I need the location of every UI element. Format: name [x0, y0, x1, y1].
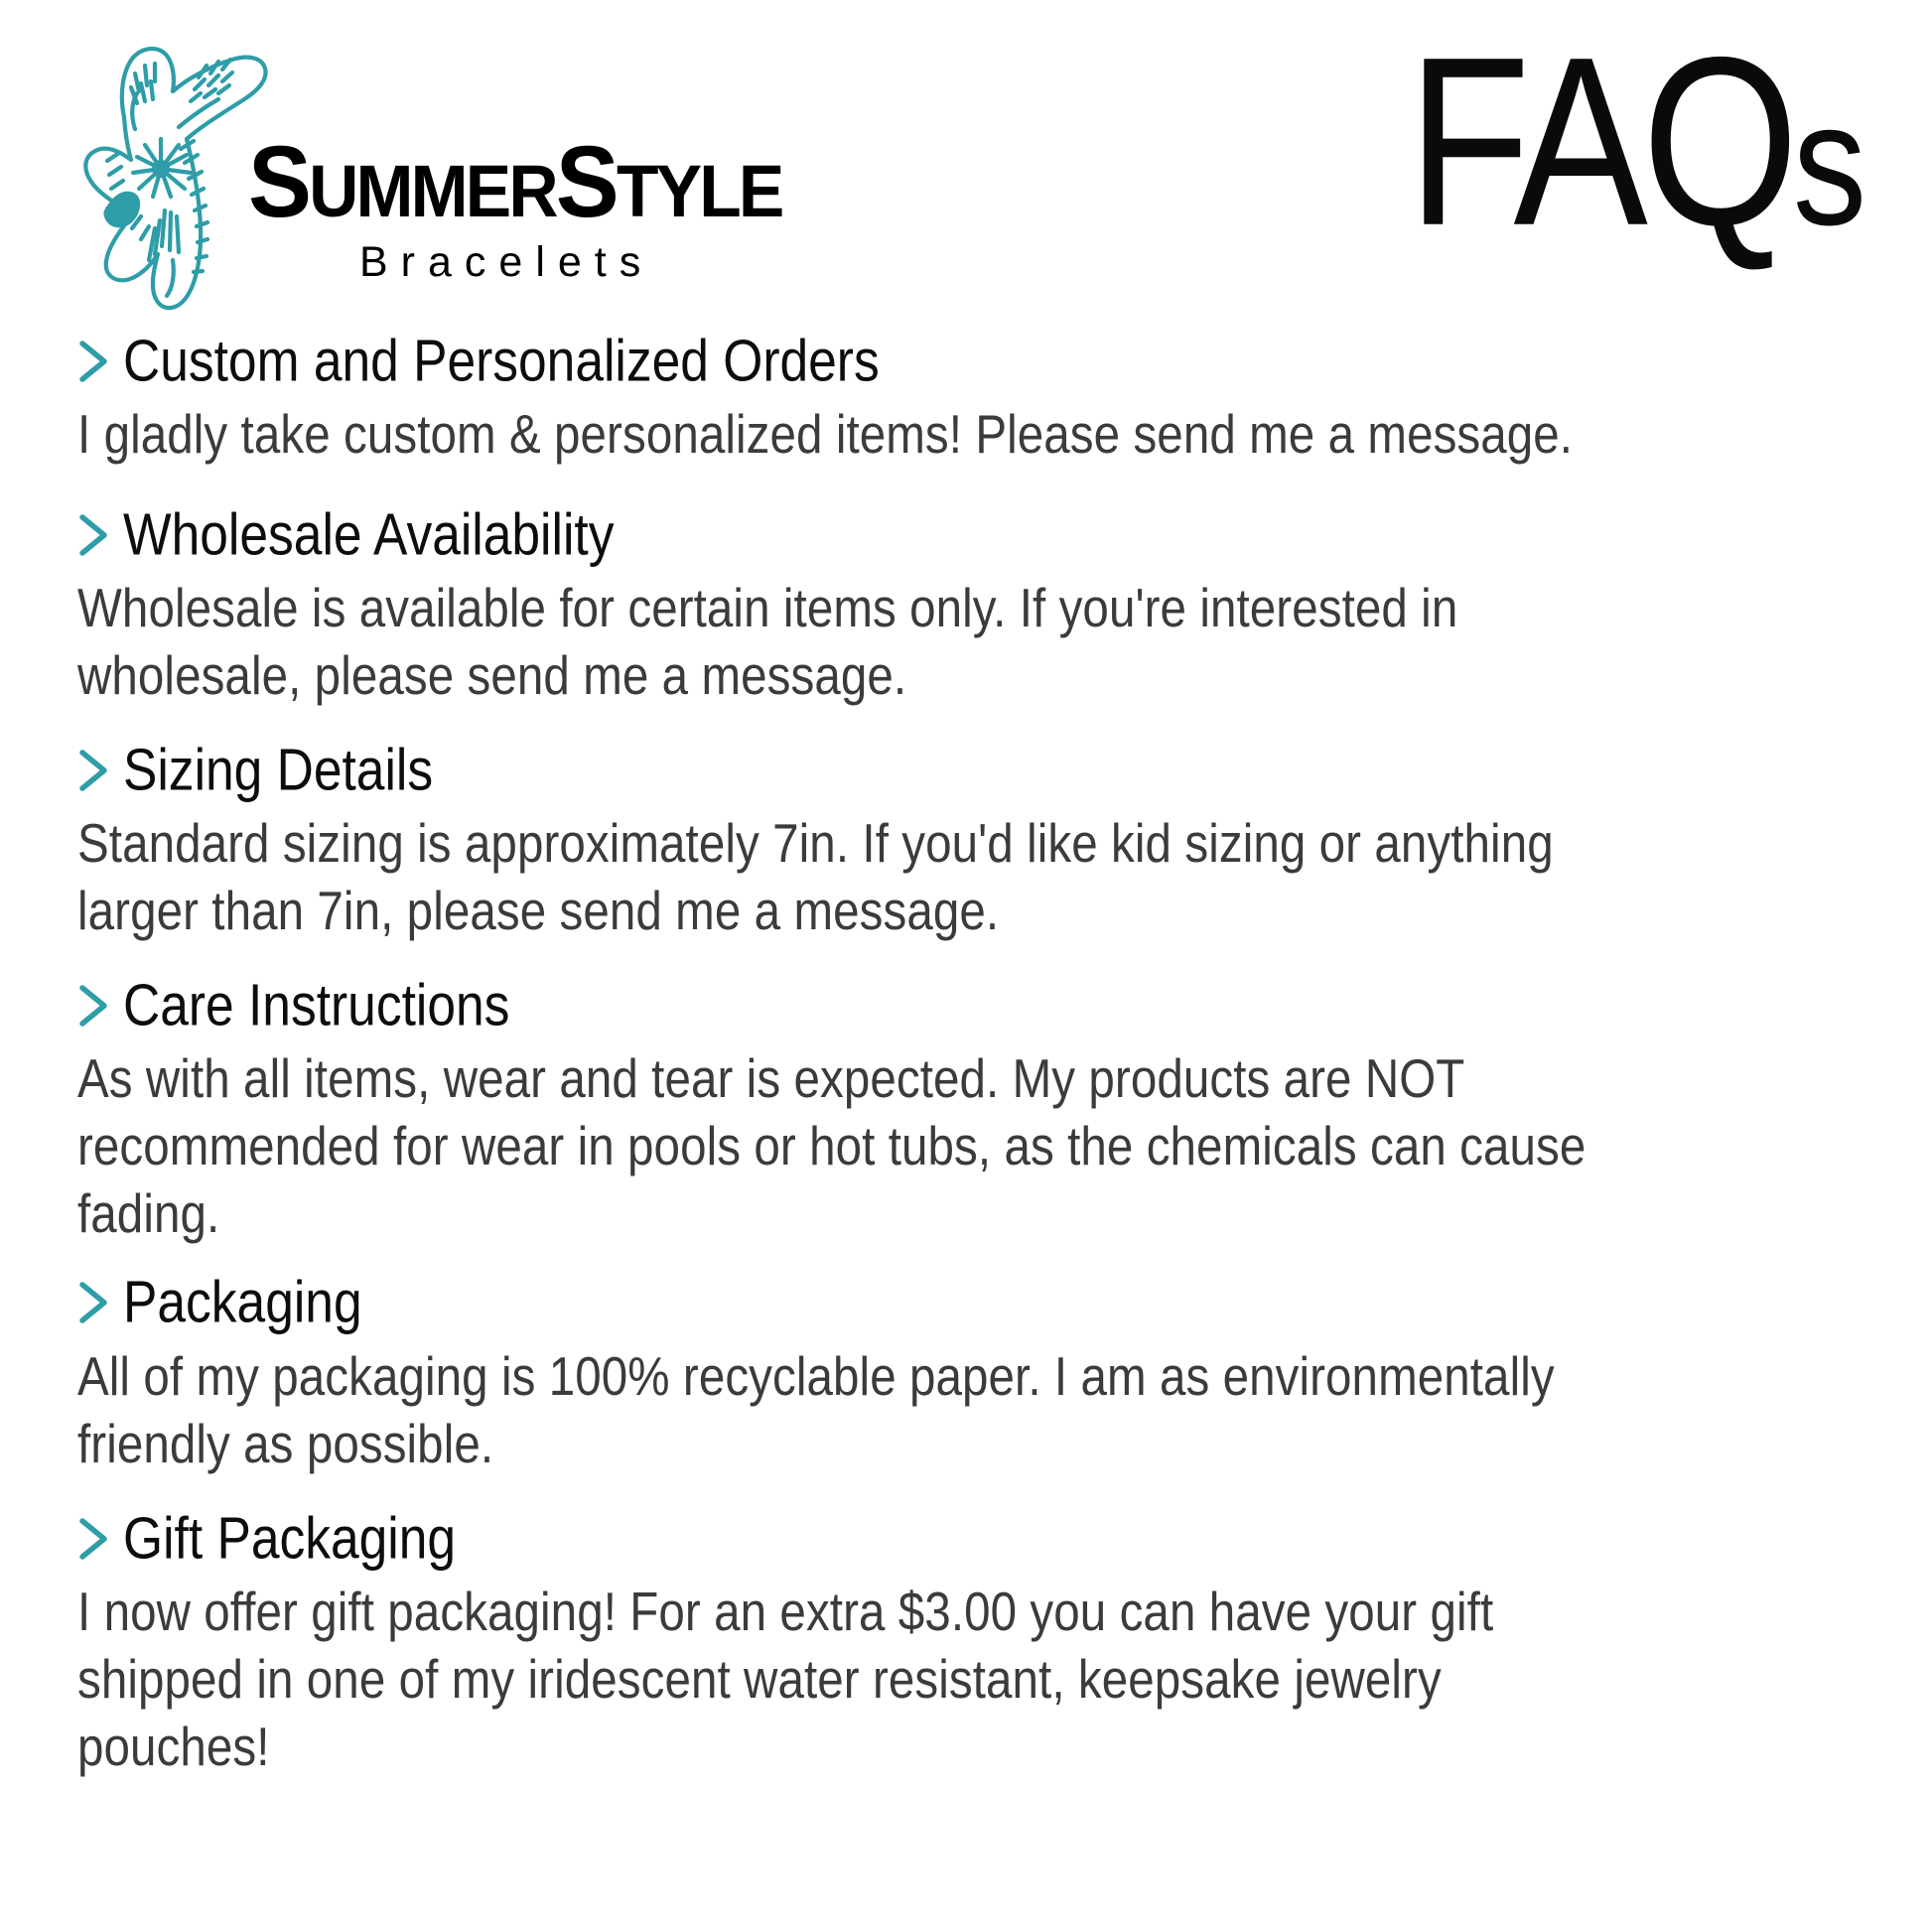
- brand-wordmark: SUMMERSTYLE: [248, 139, 781, 226]
- faq-heading[interactable]: Sizing Details: [77, 743, 1868, 799]
- wordmark-block: SUMMERSTYLE Bracelets: [248, 22, 816, 287]
- faq-item: Custom and Personalized Orders I gladly …: [77, 334, 1868, 462]
- faq-body-text: As with all items, wear and tear is expe…: [77, 1044, 1624, 1248]
- faq-body-text: All of my packaging is 100% recyclable p…: [77, 1342, 1624, 1477]
- faq-item: Sizing Details Standard sizing is approx…: [77, 743, 1868, 932]
- page-title-main: FAQ: [1408, 7, 1793, 275]
- chevron-right-icon: [77, 1279, 111, 1326]
- chevron-right-icon: [77, 1515, 111, 1563]
- faq-item: Wholesale Availability Wholesale is avai…: [77, 507, 1868, 697]
- faq-body-text: I gladly take custom & personalized item…: [77, 400, 1624, 468]
- faq-item: Packaging All of my packaging is 100% re…: [77, 1275, 1868, 1464]
- faq-heading-text: Custom and Personalized Orders: [123, 331, 880, 391]
- faq-body-text: Wholesale is available for certain items…: [77, 574, 1624, 709]
- faq-title-wrap: FAQs: [1403, 0, 1932, 210]
- faq-item: Gift Packaging I now offer gift packagin…: [77, 1511, 1868, 1762]
- faq-heading-text: Packaging: [123, 1272, 362, 1332]
- faq-body-text: I now offer gift packaging! For an extra…: [77, 1578, 1624, 1781]
- brand-subtitle: Bracelets: [248, 238, 816, 287]
- chevron-right-icon: [77, 338, 111, 385]
- faq-item: Care Instructions As with all items, wea…: [77, 978, 1868, 1229]
- faq-heading[interactable]: Care Instructions: [77, 978, 1868, 1035]
- faq-heading[interactable]: Wholesale Availability: [77, 507, 1868, 564]
- faq-page: SUMMERSTYLE Bracelets FAQs Custom and Pe…: [0, 0, 1932, 1932]
- page-title: FAQs: [1408, 44, 1866, 240]
- chevron-right-icon: [77, 982, 111, 1030]
- faq-heading-text: Sizing Details: [123, 740, 433, 800]
- faq-heading[interactable]: Gift Packaging: [77, 1511, 1868, 1568]
- faq-heading-text: Gift Packaging: [123, 1507, 456, 1568]
- faq-heading[interactable]: Custom and Personalized Orders: [77, 334, 1868, 390]
- page-header: SUMMERSTYLE Bracelets FAQs: [0, 0, 1932, 328]
- brand-lockup: SUMMERSTYLE Bracelets: [0, 0, 816, 320]
- faq-heading[interactable]: Packaging: [77, 1275, 1868, 1331]
- starfish-icon: [62, 22, 270, 320]
- faq-heading-text: Care Instructions: [123, 975, 509, 1035]
- chevron-right-icon: [77, 511, 111, 559]
- faq-heading-text: Wholesale Availability: [123, 504, 614, 565]
- page-title-suffix: s: [1793, 65, 1866, 261]
- faq-body-text: Standard sizing is approximately 7in. If…: [77, 809, 1624, 944]
- chevron-right-icon: [77, 747, 111, 794]
- faq-list: Custom and Personalized Orders I gladly …: [0, 334, 1932, 1762]
